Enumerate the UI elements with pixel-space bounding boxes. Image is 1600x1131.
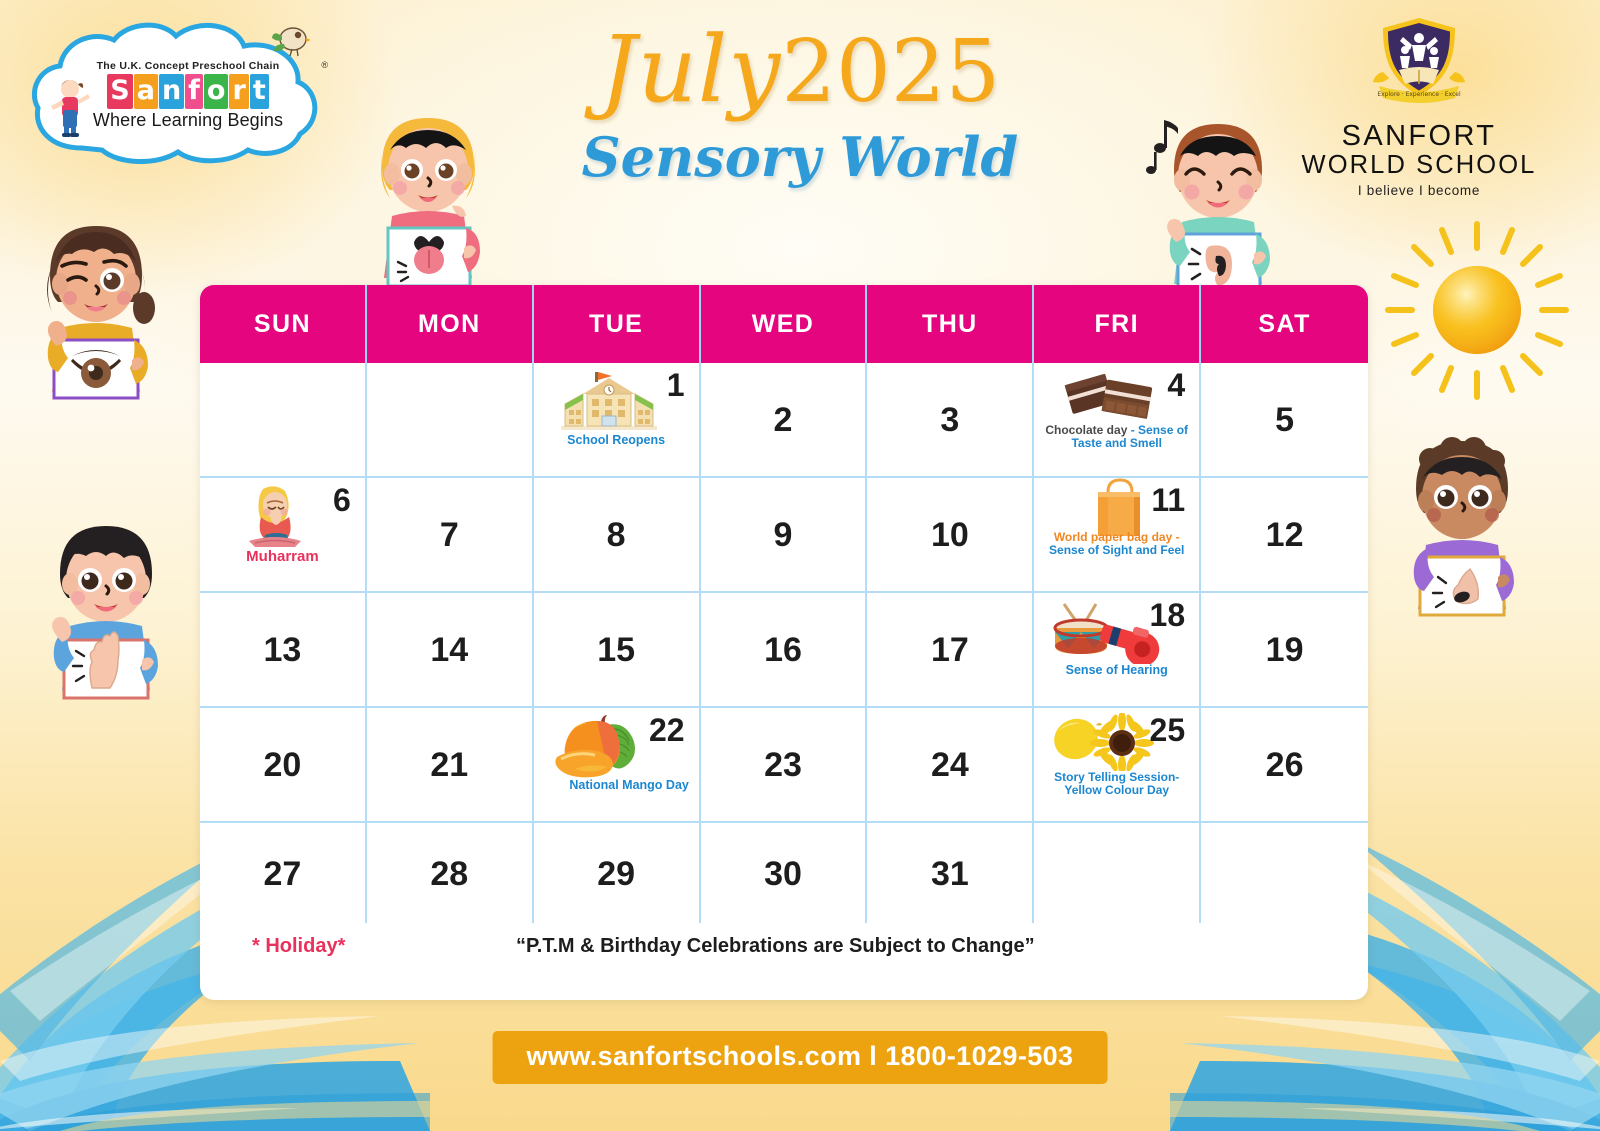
event-label-name: Chocolate day — [1045, 423, 1130, 437]
year-label: 2025 — [781, 22, 1000, 122]
day-number: 9 — [774, 518, 793, 552]
weekday-header-mon: MON — [367, 285, 534, 363]
day-number: 8 — [607, 518, 626, 552]
calendar-cell-18[interactable]: 18 — [1034, 593, 1201, 708]
disclaimer-note: “P.T.M & Birthday Celebrations are Subje… — [516, 935, 1035, 958]
day-number: 25 — [1150, 714, 1186, 746]
day-number: 30 — [764, 857, 802, 891]
sanfort-letter: a — [134, 74, 158, 109]
calendar-cell-9[interactable]: 9 — [701, 478, 868, 593]
event-label: National Mango Day — [540, 779, 693, 793]
calendar-cell-3[interactable]: 3 — [867, 363, 1034, 478]
event-label: Chocolate day - Sense of Taste and Smell — [1040, 424, 1193, 450]
shield-crest-icon: Explore · Experience · Excel — [1363, 14, 1475, 114]
sanfort-logo: The U.K. Concept Preschool Chain S a n f… — [22, 16, 332, 168]
day-number: 17 — [931, 633, 969, 667]
chocolate-bar-icon — [1060, 368, 1160, 424]
weekday-header-wed: WED — [701, 285, 868, 363]
holiday-legend: * Holiday* — [252, 935, 345, 958]
day-number: 18 — [1150, 599, 1186, 631]
school-name-line2: WORLD SCHOOL — [1290, 151, 1548, 180]
day-number: 7 — [440, 518, 459, 552]
day-number: 28 — [430, 857, 468, 891]
day-number: 14 — [430, 633, 468, 667]
calendar-cell-6[interactable]: 6 Muharra — [200, 478, 367, 593]
bird-icon — [270, 22, 310, 58]
event-label-sense: Sense of Sight and Feel — [1049, 543, 1184, 557]
day-number: 6 — [333, 484, 351, 516]
day-number: 12 — [1266, 518, 1304, 552]
event-label: Muharram — [206, 549, 359, 565]
sanfort-world-school-logo: Explore · Experience · Excel SANFORT WOR… — [1290, 14, 1548, 198]
day-number: 24 — [931, 748, 969, 782]
lemon-sunflower-icon — [1050, 713, 1154, 771]
sanfort-tagline-bottom: Where Learning Begins — [77, 110, 299, 131]
event-label-name: World paper bag day - — [1054, 530, 1180, 544]
month-label: July — [600, 16, 782, 123]
day-number: 10 — [931, 518, 969, 552]
calendar-cell-5[interactable]: 5 — [1201, 363, 1368, 478]
day-number: 23 — [764, 748, 802, 782]
event-label: Sense of Hearing — [1040, 664, 1193, 678]
calendar-legend-row: * Holiday* “P.T.M & Birthday Celebration… — [200, 923, 1368, 975]
calendar-cell-13[interactable]: 13 — [200, 593, 367, 708]
calendar-cell[interactable] — [1201, 823, 1368, 923]
day-number: 26 — [1266, 748, 1304, 782]
event-label: Story Telling Session- Yellow Colour Day — [1040, 771, 1193, 797]
calendar-cell-7[interactable]: 7 — [367, 478, 534, 593]
day-number: 1 — [667, 369, 685, 401]
kid-holding-ear-card — [1138, 108, 1298, 296]
praying-person-icon — [237, 483, 313, 549]
sanfort-letter: S — [107, 74, 132, 109]
calendar-cell-10[interactable]: 10 — [867, 478, 1034, 593]
sanfort-letter: n — [159, 74, 184, 109]
calendar-cell-20[interactable]: 20 — [200, 708, 367, 823]
day-number: 21 — [430, 748, 468, 782]
calendar-cell-25[interactable]: 25 — [1034, 708, 1201, 823]
calendar-cell[interactable] — [200, 363, 367, 478]
calendar-cell-11[interactable]: 11 World paper bag day - Sense of Sight … — [1034, 478, 1201, 593]
registered-mark: ® — [321, 60, 328, 70]
weekday-header-sun: SUN — [200, 285, 367, 363]
paper-bag-icon — [1094, 483, 1148, 531]
calendar-cell-26[interactable]: 26 — [1201, 708, 1368, 823]
calendar-cell-24[interactable]: 24 — [867, 708, 1034, 823]
day-number: 4 — [1167, 369, 1185, 401]
event-label: World paper bag day - Sense of Sight and… — [1040, 531, 1193, 557]
kid-holding-eye-card — [12, 208, 180, 404]
school-building-icon — [561, 368, 657, 434]
calendar-cell[interactable] — [367, 363, 534, 478]
kid-holding-hand-card — [22, 510, 194, 706]
calendar-cell-28[interactable]: 28 — [367, 823, 534, 923]
calendar-cell-22[interactable]: 22 National Mango Day — [534, 708, 701, 823]
day-number: 29 — [597, 857, 635, 891]
calendar-cell-17[interactable]: 17 — [867, 593, 1034, 708]
calendar-days: 1 — [200, 363, 1368, 923]
day-number: 13 — [264, 633, 302, 667]
calendar-cell-29[interactable]: 29 — [534, 823, 701, 923]
kid-holding-tongue-card — [348, 100, 508, 290]
day-number: 27 — [264, 857, 302, 891]
day-number: 31 — [931, 857, 969, 891]
calendar-cell-30[interactable]: 30 — [701, 823, 868, 923]
website-phone-text: www.sanfortschools.com l 1800-1029-503 — [527, 1041, 1074, 1071]
calendar-weekday-header: SUN MON TUE WED THU FRI SAT — [200, 285, 1368, 363]
calendar-grid: SUN MON TUE WED THU FRI SAT 1 — [200, 285, 1368, 1000]
calendar-cell-23[interactable]: 23 — [701, 708, 868, 823]
kid-holding-nose-card — [1378, 425, 1546, 621]
calendar-cell-8[interactable]: 8 — [534, 478, 701, 593]
day-number: 3 — [940, 403, 959, 437]
day-number: 20 — [264, 748, 302, 782]
calendar-cell-1[interactable]: 1 — [534, 363, 701, 478]
sanfort-tagline-top: The U.K. Concept Preschool Chain — [77, 60, 299, 72]
day-number: 11 — [1151, 484, 1185, 516]
calendar-cell-31[interactable]: 31 — [867, 823, 1034, 923]
weekday-header-tue: TUE — [534, 285, 701, 363]
weekday-header-thu: THU — [867, 285, 1034, 363]
event-label: School Reopens — [540, 434, 693, 448]
website-contact-banner[interactable]: www.sanfortschools.com l 1800-1029-503 — [493, 1031, 1108, 1084]
calendar-cell[interactable] — [1034, 823, 1201, 923]
calendar-cell-14[interactable]: 14 — [367, 593, 534, 708]
school-name-line1: SANFORT — [1290, 121, 1548, 151]
calendar-cell-27[interactable]: 27 — [200, 823, 367, 923]
calendar-cell-15[interactable]: 15 — [534, 593, 701, 708]
sun-icon — [1382, 218, 1572, 403]
calendar-cell-19[interactable]: 19 — [1201, 593, 1368, 708]
day-number: 22 — [649, 714, 685, 746]
calendar-poster: The U.K. Concept Preschool Chain S a n f… — [0, 0, 1600, 1131]
day-number: 5 — [1275, 403, 1294, 437]
weekday-header-sat: SAT — [1201, 285, 1368, 363]
crest-motto: Explore · Experience · Excel — [1377, 91, 1461, 98]
day-number: 2 — [774, 403, 793, 437]
calendar-cell-21[interactable]: 21 — [367, 708, 534, 823]
calendar-cell-12[interactable]: 12 — [1201, 478, 1368, 593]
day-number: 16 — [764, 633, 802, 667]
mango-icon — [551, 713, 655, 779]
calendar-cell-2[interactable]: 2 — [701, 363, 868, 478]
sanfort-letter: t — [250, 74, 269, 109]
sanfort-letter: r — [229, 74, 248, 109]
calendar-cell-4[interactable]: 4 — [1034, 363, 1201, 478]
sanfort-letter: f — [185, 74, 203, 109]
calendar-cell-16[interactable]: 16 — [701, 593, 868, 708]
day-number: 19 — [1266, 633, 1304, 667]
sanfort-wordmark: S a n f o r t — [77, 74, 299, 109]
sanfort-letter: o — [204, 74, 229, 109]
school-tagline: I believe I become — [1290, 183, 1548, 198]
day-number: 15 — [597, 633, 635, 667]
weekday-header-fri: FRI — [1034, 285, 1201, 363]
